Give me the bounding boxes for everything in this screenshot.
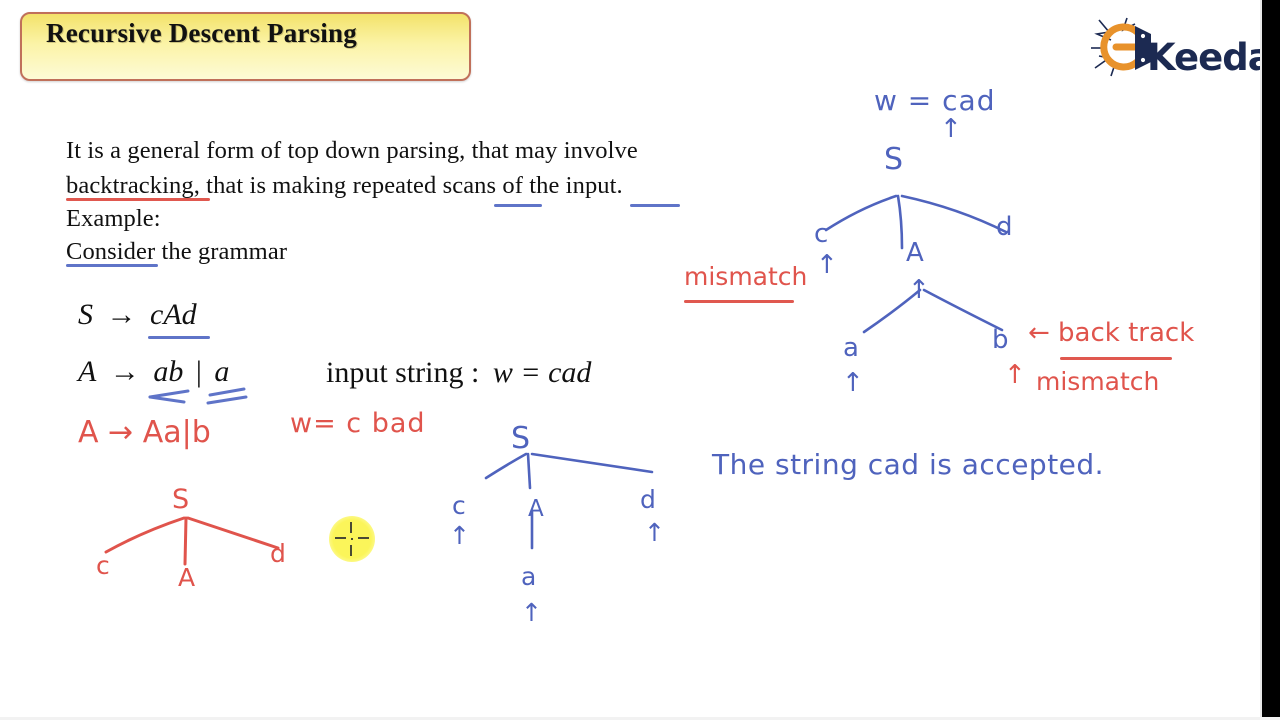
grammar-rule-1: S → cAd [78,298,197,332]
middle-tree-leaf-A: A [528,496,544,522]
right-tree-root-S: S [884,142,903,177]
underline-scans [494,204,542,207]
underline-mismatch-1 [684,300,794,303]
underline-consider [66,264,158,267]
right-tree-leaf-a: a [843,333,859,363]
body-line-3: Example: [66,205,161,233]
body-line-2: backtracking, that is making repeated sc… [66,172,623,200]
red-parse-tree [80,480,310,590]
underline-input [630,204,680,207]
body-line-4: Consider the grammar [66,238,287,266]
middle-tree-pointer-c: ↑ [449,521,470,550]
annotation-mismatch-1: mismatch [684,262,807,291]
page-title: Recursive Descent Parsing [46,18,357,49]
right-tree-header: w = cad [874,84,996,117]
right-tree-pointer-b: ↑ [1004,360,1026,390]
middle-tree-leaf-c: c [452,491,466,520]
right-parse-tree [790,150,1070,370]
red-tree-leaf-A: A [178,563,195,592]
middle-tree-pointer-a: ↑ [521,598,542,627]
bezel-right [1262,0,1280,720]
underline-backtracking [66,198,210,201]
cursor-highlight-icon [329,516,375,562]
middle-tree-leaf-d: d [640,485,656,514]
annotation-conclusion: The string cad is accepted. [712,448,1104,481]
annotation-red-string: w= c bad [290,408,426,439]
input-string-value: w = cad [487,356,592,389]
right-tree-leaf-A: A [906,238,924,268]
body-line-1: It is a general form of top down parsing… [66,137,638,165]
right-tree-pointer-A: ↑ [908,275,930,305]
annotation-mismatch-2: mismatch [1036,367,1159,396]
underline-cAd [148,336,210,339]
right-tree-leaf-d: d [996,212,1013,242]
brand-wordmark: Keeda [1147,36,1272,79]
annotation-backtrack: ← back track [1028,318,1194,348]
right-tree-pointer-a: ↑ [842,368,864,398]
right-tree-leaf-c: c [814,219,828,249]
rule2-bar: | [191,355,207,388]
rule1-lhs: S [78,298,93,331]
middle-tree-leaf-a: a [521,562,536,591]
rule1-rhs: cAd [150,298,197,331]
middle-parse-tree [440,420,690,630]
input-string-label: input string : [326,356,479,389]
right-tree-header-pointer: ↑ [940,114,962,144]
input-string-statement: input string : w = cad [326,356,591,390]
rule1-arrow: → [101,298,143,331]
underline-backtrack [1060,357,1172,360]
red-tree-leaf-d: d [270,539,286,568]
underline-ab-and-a [148,385,258,411]
middle-tree-root-S: S [511,421,530,456]
red-tree-leaf-c: c [96,551,110,580]
rule2-lhs: A [78,355,96,388]
right-tree-leaf-b: b [992,325,1009,355]
middle-tree-pointer-d: ↑ [644,518,665,547]
red-tree-root-S: S [172,484,189,515]
slide-canvas: Recursive Descent Parsing Keeda It is a … [0,0,1280,720]
rule2-rhs-a: ab [153,355,183,388]
ekeeda-logo: Keeda [1085,14,1260,86]
right-tree-pointer-c: ↑ [816,250,838,280]
annotation-red-rule: A → Aa|b [78,415,211,450]
grammar-rule-2: A → ab | a [78,355,229,389]
rule2-arrow: → [104,355,146,388]
rule2-rhs-b: a [214,355,229,388]
